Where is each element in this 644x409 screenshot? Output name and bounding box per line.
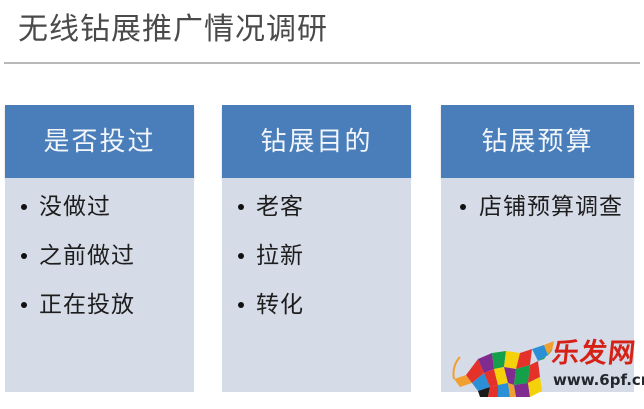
list-item-label: 店铺预算调查 (479, 194, 623, 220)
watermark-brand: 乐发网 (550, 338, 637, 370)
list-item: 正在投放 (13, 290, 186, 321)
bullet-list-2: 老客 拉新 转化 (230, 192, 403, 321)
bullet-dot-icon (238, 204, 244, 210)
bullet-dot-icon (21, 253, 27, 259)
watermark-text: 乐发网 www.6pf.cn (552, 337, 640, 397)
bullet-dot-icon (238, 302, 244, 308)
list-item: 老客 (230, 192, 403, 223)
bullet-dot-icon (21, 302, 27, 308)
column-header-label-1: 是否投过 (43, 127, 155, 157)
column-card-2: 钻展目的 老客 拉新 转化 (222, 105, 411, 392)
list-item-label: 转化 (256, 292, 304, 318)
column-body-2: 老客 拉新 转化 (222, 178, 411, 392)
column-header-label-2: 钻展目的 (260, 127, 372, 157)
bullet-list-3: 店铺预算调查 (449, 192, 626, 223)
slide-canvas: 无线钻展推广情况调研 是否投过 没做过 之前做过 (0, 0, 644, 409)
bullet-dot-icon (460, 204, 466, 210)
bull-logo-icon (452, 339, 556, 397)
page-title: 无线钻展推广情况调研 (18, 8, 328, 52)
column-header-3: 钻展预算 (441, 105, 634, 178)
column-body-1: 没做过 之前做过 正在投放 (5, 178, 194, 392)
list-item: 之前做过 (13, 241, 186, 272)
list-item: 转化 (230, 290, 403, 321)
column-card-1: 是否投过 没做过 之前做过 正在投放 (5, 105, 194, 392)
list-item-label: 之前做过 (39, 243, 135, 269)
list-item-label: 拉新 (256, 243, 304, 269)
column-header-2: 钻展目的 (222, 105, 411, 178)
list-item: 拉新 (230, 241, 403, 272)
list-item-label: 正在投放 (39, 292, 135, 318)
column-header-label-3: 钻展预算 (481, 127, 593, 157)
bullet-list-1: 没做过 之前做过 正在投放 (13, 192, 186, 321)
list-item-label: 老客 (256, 194, 304, 220)
bullet-dot-icon (21, 204, 27, 210)
title-divider (4, 62, 640, 64)
column-header-1: 是否投过 (5, 105, 194, 178)
bullet-dot-icon (238, 253, 244, 259)
list-item: 没做过 (13, 192, 186, 223)
list-item: 店铺预算调查 (449, 192, 626, 223)
watermark-url: www.6pf.cn (553, 371, 644, 389)
list-item-label: 没做过 (39, 194, 111, 220)
watermark: 乐发网 www.6pf.cn (452, 337, 638, 399)
